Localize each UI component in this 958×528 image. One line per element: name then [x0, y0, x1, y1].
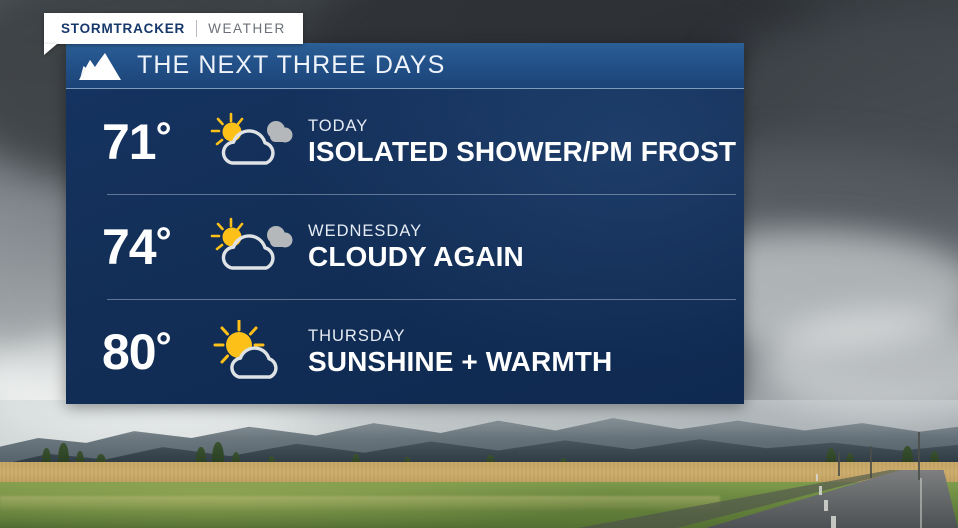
brand-name: STORMTRACKER: [61, 21, 185, 36]
condition-label: CLOUDY AGAIN: [308, 241, 524, 272]
brand-tag-tail: [44, 44, 57, 55]
degree-symbol: °: [156, 220, 171, 264]
mountain-icon: [78, 51, 122, 81]
forecast-panel-body: 71°: [66, 89, 744, 404]
partly-cloudy-icon: [208, 110, 294, 174]
degree-symbol: °: [156, 115, 171, 159]
temperature-value: 71°: [102, 117, 208, 167]
degree-symbol: °: [156, 325, 171, 369]
temperature-number: 74: [102, 219, 156, 275]
forecast-row: 71°: [66, 89, 744, 194]
condition-label: ISOLATED SHOWER/PM FROST: [308, 136, 736, 167]
forecast-row: 74°: [66, 194, 744, 299]
temperature-number: 71: [102, 114, 156, 170]
back-cloud: [267, 226, 293, 248]
temperature-number: 80: [102, 324, 156, 380]
condition-label: SUNSHINE + WARMTH: [308, 346, 612, 377]
utility-pole: [918, 432, 920, 480]
road-center-line: [824, 500, 828, 511]
utility-pole: [838, 452, 840, 476]
panel-title: THE NEXT THREE DAYS: [137, 51, 445, 80]
stormtracker-brand-tag: STORMTRACKER WEATHER: [44, 13, 303, 44]
day-label: THURSDAY: [308, 326, 612, 347]
day-label: TODAY: [308, 116, 736, 137]
road-center-line: [816, 474, 818, 481]
utility-pole: [870, 446, 872, 478]
day-label: WEDNESDAY: [308, 221, 524, 242]
road-center-line: [819, 486, 822, 495]
temperature-value: 80°: [102, 327, 208, 377]
road-center-line: [831, 516, 836, 528]
temperature-value: 74°: [102, 222, 208, 272]
mown-grass-band: [0, 496, 720, 510]
forecast-panel-header: THE NEXT THREE DAYS: [66, 43, 744, 89]
forecast-row: 80° TH: [66, 299, 744, 404]
sun-cloud-icon: [208, 320, 294, 384]
forecast-text-block: TODAY ISOLATED SHOWER/PM FROST: [308, 116, 736, 168]
brand-category: WEATHER: [208, 21, 286, 36]
partly-cloudy-icon: [208, 215, 294, 279]
brand-separator: [196, 20, 197, 37]
weather-graphic-screen: STORMTRACKER WEATHER THE NEXT THREE DAYS…: [0, 0, 958, 528]
road-edge-line: [920, 478, 922, 528]
forecast-panel: THE NEXT THREE DAYS 71°: [66, 43, 744, 404]
back-cloud: [267, 121, 293, 143]
forecast-text-block: WEDNESDAY CLOUDY AGAIN: [308, 221, 524, 273]
forecast-text-block: THURSDAY SUNSHINE + WARMTH: [308, 326, 612, 378]
